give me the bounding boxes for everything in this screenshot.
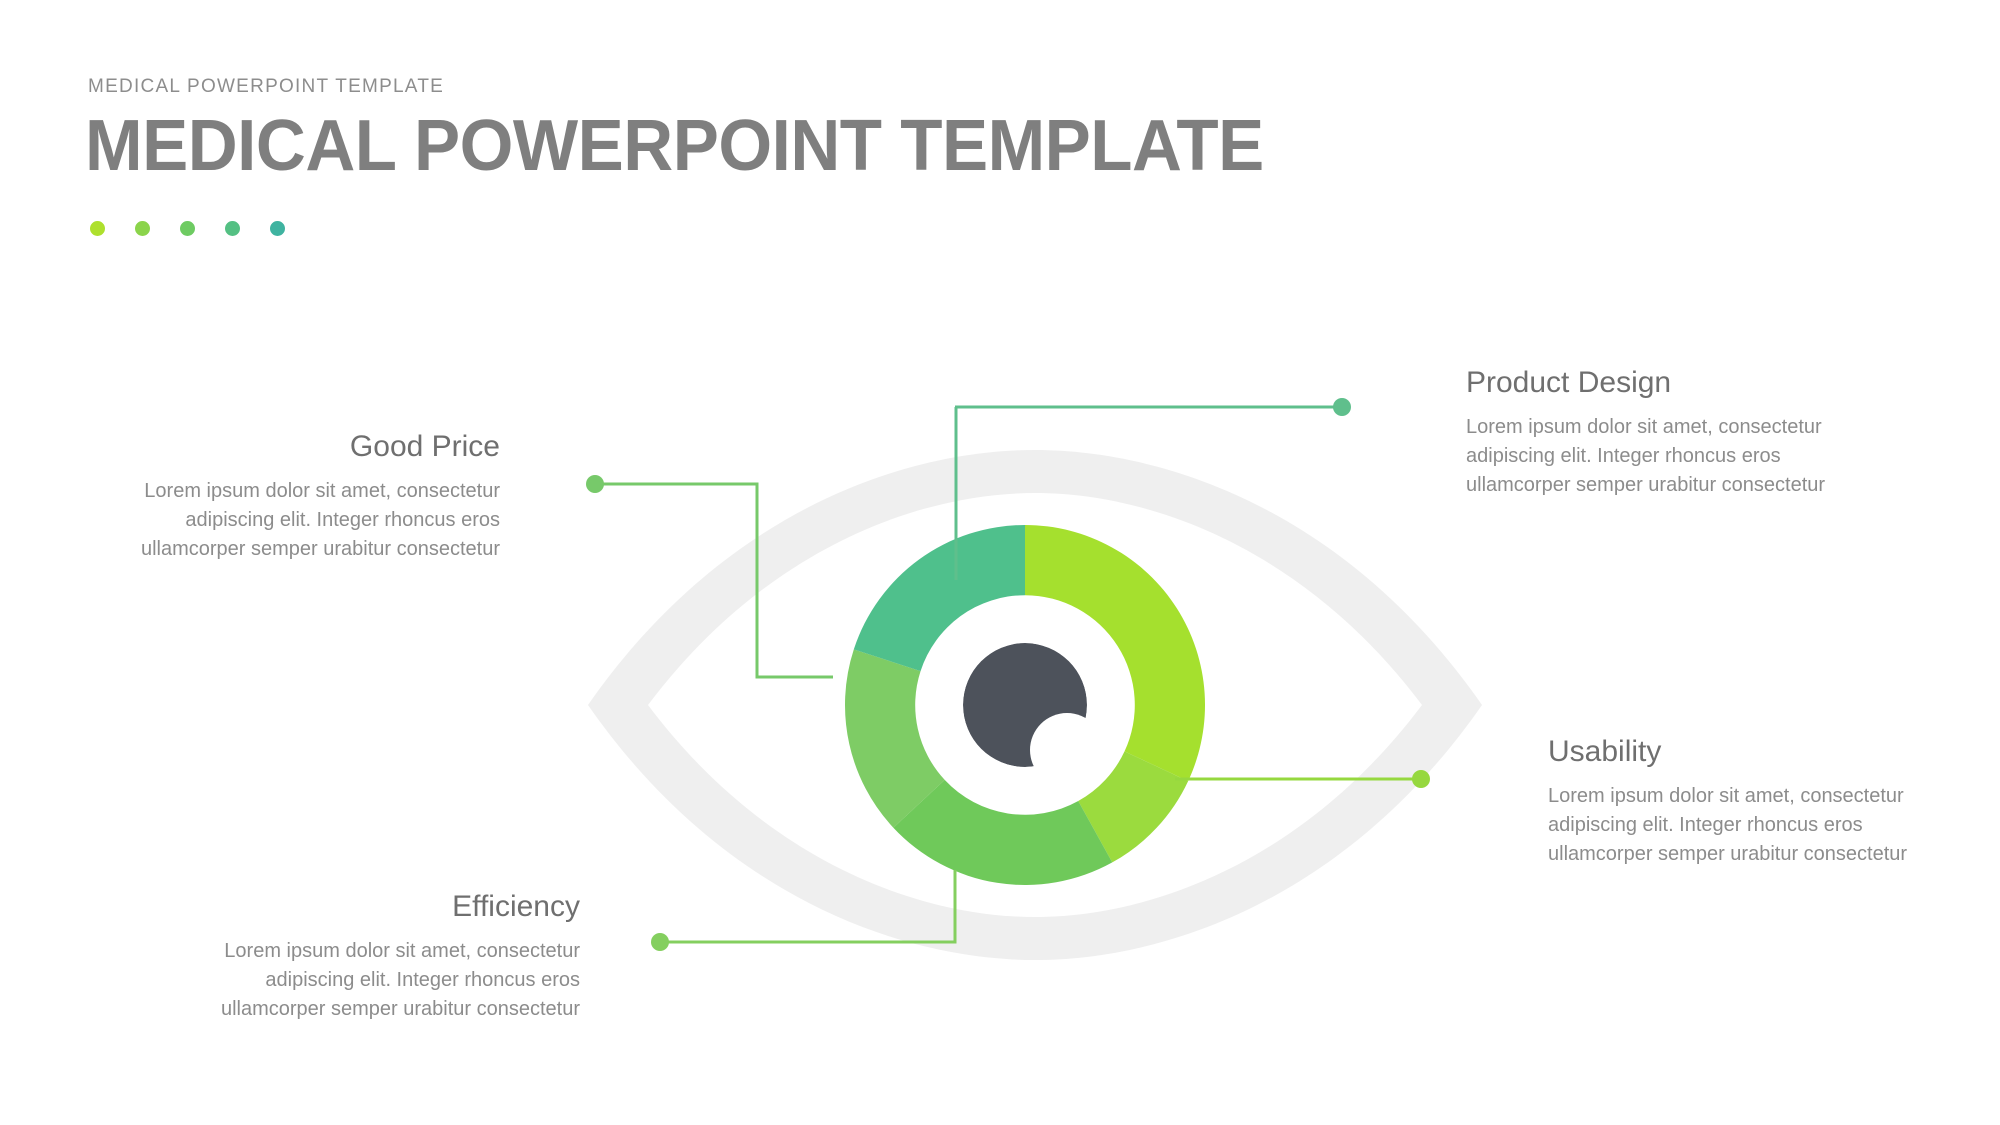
callout-usability: Usability Lorem ipsum dolor sit amet, co… xyxy=(1548,735,1968,869)
connector-endpoint-dot xyxy=(586,475,604,493)
callout-title: Usability xyxy=(1548,735,1968,768)
callout-title: Product Design xyxy=(1466,366,1886,399)
connector-endpoint-dot xyxy=(1412,770,1430,788)
callout-body: Lorem ipsum dolor sit amet, consectetur … xyxy=(190,937,580,1024)
page-title: MEDICAL POWERPOINT TEMPLATE xyxy=(85,110,1264,182)
connector-endpoint-dot xyxy=(1333,398,1351,416)
accent-dot-3 xyxy=(180,221,195,236)
pupil xyxy=(963,643,1087,767)
accent-dot-2 xyxy=(135,221,150,236)
connector-usability xyxy=(1175,768,1440,798)
connector-endpoint-dot xyxy=(651,933,669,951)
callout-title: Good Price xyxy=(110,430,500,463)
slide-kicker: MEDICAL POWERPOINT TEMPLATE xyxy=(88,76,444,98)
connector-product-design xyxy=(950,395,1360,585)
callout-body: Lorem ipsum dolor sit amet, consectetur … xyxy=(1548,782,1968,869)
callout-title: Efficiency xyxy=(190,890,580,923)
connector-efficiency xyxy=(650,870,980,965)
slide-canvas: MEDICAL POWERPOINT TEMPLATE MEDICAL POWE… xyxy=(0,0,2000,1125)
callout-efficiency: Efficiency Lorem ipsum dolor sit amet, c… xyxy=(190,890,580,1024)
accent-dot-5 xyxy=(270,221,285,236)
callout-body: Lorem ipsum dolor sit amet, consectetur … xyxy=(1466,413,1886,500)
callout-product-design: Product Design Lorem ipsum dolor sit ame… xyxy=(1466,366,1886,500)
accent-dot-1 xyxy=(90,221,105,236)
accent-dot-4 xyxy=(225,221,240,236)
callout-good-price: Good Price Lorem ipsum dolor sit amet, c… xyxy=(110,430,500,564)
connector-good-price xyxy=(585,472,845,702)
callout-body: Lorem ipsum dolor sit amet, consectetur … xyxy=(110,477,500,564)
accent-dots-row xyxy=(90,221,285,236)
